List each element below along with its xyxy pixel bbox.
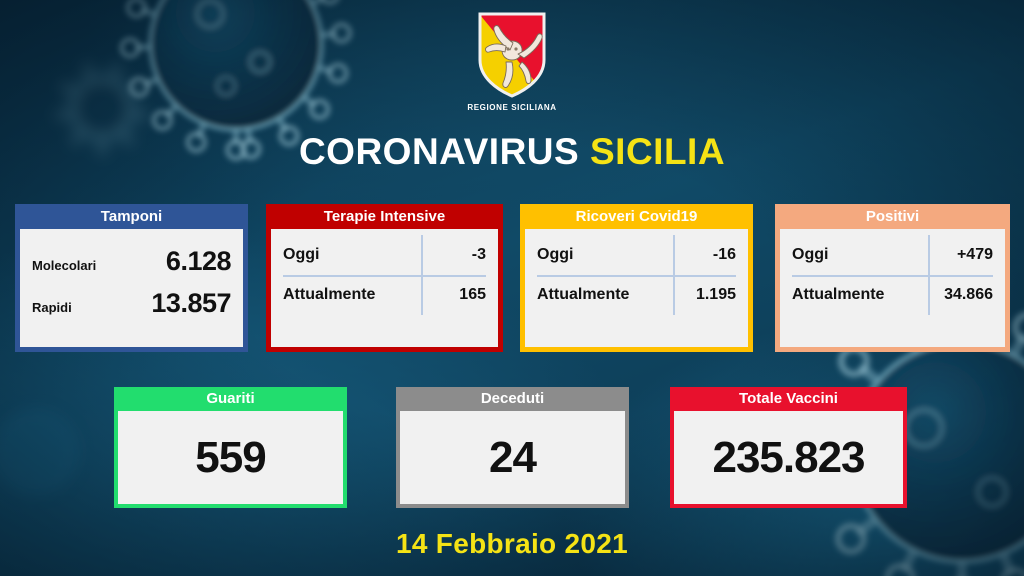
report-date: 14 Febbraio 2021 [0, 528, 1024, 560]
stat-card-guariti-value: 559 [195, 436, 265, 480]
sicilian-region-coat-of-arms-icon [466, 8, 558, 100]
stat-card-terapie-intensive-body: Oggi -3 Attualmente 165 [271, 229, 498, 347]
stat-row-oggi-value: -3 [472, 235, 486, 275]
stat-row-attualmente-value: 34.866 [944, 275, 993, 315]
stat-row-oggi-label: Oggi [537, 235, 573, 275]
stat-card-ricoveri-covid19-title: Ricoveri Covid19 [520, 204, 753, 229]
stat-row-rapidi-value: 13.857 [151, 288, 231, 319]
crest-label: REGIONE SICILIANA [467, 103, 556, 112]
stat-card-totale-vaccini-value: 235.823 [712, 436, 864, 480]
stat-row-attualmente-label: Attualmente [537, 275, 629, 315]
stat-row-molecolari-label: Molecolari [32, 258, 96, 273]
divider-vertical [928, 235, 930, 315]
stat-card-terapie-intensive: Terapie Intensive Oggi -3 Attualmente 16… [266, 204, 503, 352]
stat-card-totale-vaccini: Totale Vaccini 235.823 [670, 387, 907, 508]
stat-row-attualmente-value: 165 [459, 275, 486, 315]
stat-card-positivi-body: Oggi +479 Attualmente 34.866 [780, 229, 1005, 347]
stat-card-deceduti-value: 24 [489, 436, 536, 480]
stat-card-terapie-intensive-title: Terapie Intensive [266, 204, 503, 229]
stat-card-tamponi: Tamponi Molecolari 6.128 Rapidi 13.857 [15, 204, 248, 352]
stat-row-oggi-label: Oggi [792, 235, 828, 275]
stat-row-attualmente-label: Attualmente [792, 275, 884, 315]
stat-card-positivi-title: Positivi [775, 204, 1010, 229]
stat-card-totale-vaccini-body: 235.823 [674, 411, 903, 504]
stat-card-deceduti-body: 24 [400, 411, 625, 504]
header-crest-block: REGIONE SICILIANA [0, 8, 1024, 112]
stat-card-guariti-title: Guariti [114, 387, 347, 411]
stat-row-attualmente-value: 1.195 [696, 275, 736, 315]
page-title-accent: SICILIA [590, 131, 725, 172]
divider-vertical [421, 235, 423, 315]
stat-card-positivi: Positivi Oggi +479 Attualmente 34.866 [775, 204, 1010, 352]
stat-card-ricoveri-covid19-body: Oggi -16 Attualmente 1.195 [525, 229, 748, 347]
stat-card-ricoveri-covid19: Ricoveri Covid19 Oggi -16 Attualmente 1.… [520, 204, 753, 352]
stat-card-totale-vaccini-title: Totale Vaccini [670, 387, 907, 411]
stat-card-tamponi-body: Molecolari 6.128 Rapidi 13.857 [20, 229, 243, 347]
stat-row-molecolari-value: 6.128 [166, 246, 231, 277]
stat-row-molecolari: Molecolari 6.128 [32, 246, 231, 288]
page-title: CORONAVIRUS SICILIA [0, 133, 1024, 170]
divider-vertical [673, 235, 675, 315]
stat-card-deceduti: Deceduti 24 [396, 387, 629, 508]
stat-card-deceduti-title: Deceduti [396, 387, 629, 411]
stat-row-rapidi-label: Rapidi [32, 300, 72, 315]
stat-row-oggi-value: -16 [713, 235, 736, 275]
stat-card-guariti: Guariti 559 [114, 387, 347, 508]
page-title-primary: CORONAVIRUS [299, 131, 579, 172]
stat-row-rapidi: Rapidi 13.857 [32, 288, 231, 330]
infographic-canvas: REGIONE SICILIANA CORONAVIRUS SICILIA Ta… [0, 0, 1024, 576]
stat-row-oggi-value: +479 [957, 235, 993, 275]
stat-row-attualmente-label: Attualmente [283, 275, 375, 315]
stat-card-tamponi-title: Tamponi [15, 204, 248, 229]
stat-card-guariti-body: 559 [118, 411, 343, 504]
stat-row-oggi-label: Oggi [283, 235, 319, 275]
